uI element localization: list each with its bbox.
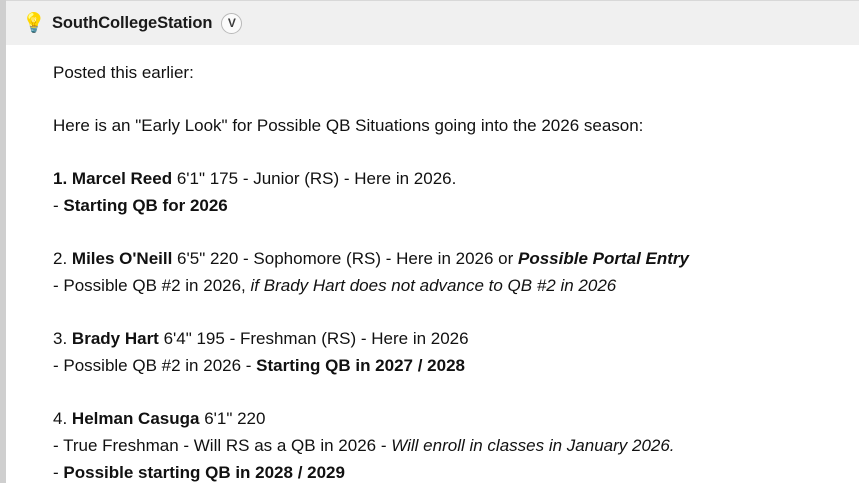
qb-item-1-name: Marcel Reed — [72, 169, 172, 188]
qb-item-2-name: Miles O'Neill — [72, 249, 172, 268]
qb-item-3-detail: - Possible QB #2 in 2026 - Starting QB i… — [53, 352, 839, 379]
post-header: 💡 SouthCollegeStation V — [6, 0, 859, 45]
post-container: 💡 SouthCollegeStation V Posted this earl… — [6, 0, 859, 483]
qb-item-4-headline: 4. Helman Casuga 6'1" 220 — [53, 405, 839, 432]
qb-item-2-detail-prefix: - Possible QB #2 in 2026, — [53, 276, 251, 295]
qb-item-3-detail-bold: Starting QB in 2027 / 2028 — [256, 356, 465, 375]
qb-item-4-stats: 6'1" 220 — [199, 409, 265, 428]
lede-text: Here is an "Early Look" for Possible QB … — [53, 112, 839, 139]
verified-circle-icon[interactable]: V — [221, 13, 242, 34]
qb-item-3-number: 3. — [53, 329, 67, 348]
qb-item-2-number: 2. — [53, 249, 67, 268]
qb-item-2-detail-italic: if Brady Hart does not advance to QB #2 … — [251, 276, 617, 295]
post-body: Posted this earlier: Here is an "Early L… — [6, 45, 859, 486]
qb-item-1-detail-prefix: - — [53, 196, 63, 215]
qb-item-4-extra: - Possible starting QB in 2028 / 2029 — [53, 459, 839, 486]
qb-item-4-extra-bold: Possible starting QB in 2028 / 2029 — [63, 463, 345, 482]
intro-text: Posted this earlier: — [53, 59, 839, 86]
paragraph-lede: Here is an "Early Look" for Possible QB … — [53, 112, 839, 139]
qb-item-1-number: 1. — [53, 169, 67, 188]
left-scroll-rail[interactable] — [0, 0, 6, 483]
qb-item-3-stats: 6'4" 195 - Freshman (RS) - Here in 2026 — [159, 329, 469, 348]
qb-item-3-name: Brady Hart — [72, 329, 159, 348]
qb-item-2-tail-italic: Possible Portal Entry — [518, 249, 689, 268]
qb-item-4: 4. Helman Casuga 6'1" 220 - True Freshma… — [53, 405, 839, 486]
qb-item-2-detail: - Possible QB #2 in 2026, if Brady Hart … — [53, 272, 839, 299]
qb-item-1-detail-bold: Starting QB for 2026 — [63, 196, 227, 215]
qb-item-3-detail-prefix: - Possible QB #2 in 2026 - — [53, 356, 256, 375]
qb-item-3-headline: 3. Brady Hart 6'4" 195 - Freshman (RS) -… — [53, 325, 839, 352]
qb-item-2-stats: 6'5" 220 - Sophomore (RS) - Here in 2026… — [172, 249, 518, 268]
qb-item-4-detail-italic: Will enroll in classes in January 2026. — [391, 436, 674, 455]
qb-item-4-detail-prefix: - True Freshman - Will RS as a QB in 202… — [53, 436, 391, 455]
qb-item-4-extra-prefix: - — [53, 463, 63, 482]
qb-item-1-detail: - Starting QB for 2026 — [53, 192, 839, 219]
qb-item-1: 1. Marcel Reed 6'1" 175 - Junior (RS) - … — [53, 165, 839, 219]
qb-item-1-headline: 1. Marcel Reed 6'1" 175 - Junior (RS) - … — [53, 165, 839, 192]
qb-item-3: 3. Brady Hart 6'4" 195 - Freshman (RS) -… — [53, 325, 839, 379]
lightbulb-icon: 💡 — [22, 14, 46, 33]
qb-item-1-stats: 6'1" 175 - Junior (RS) - Here in 2026. — [172, 169, 456, 188]
qb-item-2-headline: 2. Miles O'Neill 6'5" 220 - Sophomore (R… — [53, 245, 839, 272]
qb-item-4-name: Helman Casuga — [72, 409, 200, 428]
qb-item-4-detail: - True Freshman - Will RS as a QB in 202… — [53, 432, 839, 459]
author-name[interactable]: SouthCollegeStation — [52, 14, 212, 33]
verified-badge-letter: V — [228, 17, 236, 29]
paragraph-intro: Posted this earlier: — [53, 59, 839, 86]
qb-item-2: 2. Miles O'Neill 6'5" 220 - Sophomore (R… — [53, 245, 839, 299]
qb-item-4-number: 4. — [53, 409, 67, 428]
